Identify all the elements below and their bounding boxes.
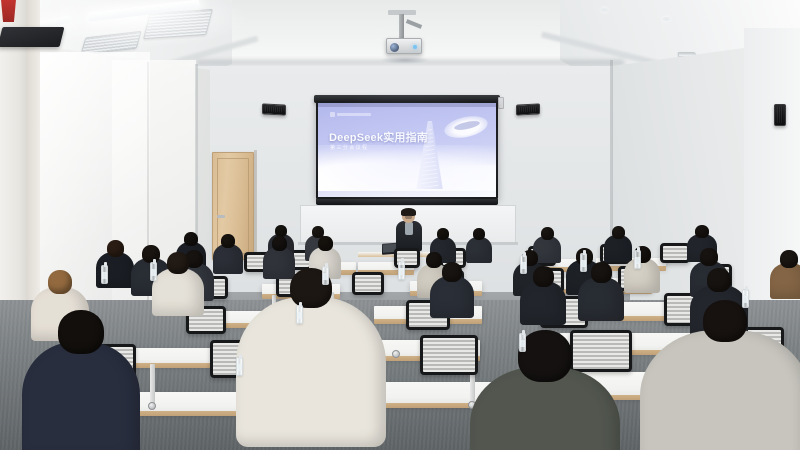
mesh back task chair[interactable] [660,243,690,263]
slide-cloud-graphic [318,145,496,191]
audience-member [236,268,386,450]
audience-member-torso [236,297,386,447]
wall-speaker-icon [516,103,540,115]
door-handle-icon[interactable] [217,215,225,218]
audience-member-head [533,266,554,287]
seminar-room-photo: DeepSeek实用指南 第三分会议程 [0,0,800,450]
audience-member-head [473,228,485,240]
audience-member-head [612,226,625,239]
audience-member-head [167,252,189,274]
water-bottle [520,255,527,274]
water-bottle [236,357,243,376]
presenter [396,210,422,250]
water-bottle [742,289,749,308]
audience-member-head [107,240,124,257]
door-frame-shadow [254,150,257,262]
audience-member-head [221,234,235,248]
audience-member [520,266,566,331]
audience-member-head [703,300,747,342]
wall-speaker-icon [262,103,286,115]
audience-member-torso [624,258,660,293]
water-bottle [398,261,405,280]
water-bottle [519,333,526,352]
presenter-face [405,215,412,219]
presenter-shirt [405,222,413,235]
audience-member-head [700,248,718,266]
slide-top-bar [318,103,496,107]
audience-member-head [184,232,198,246]
water-bottle [101,265,108,284]
slide-title: DeepSeek实用指南 [329,129,428,145]
audience-member [470,330,620,450]
audience-member-head [518,330,572,382]
projector-status-led [413,45,417,49]
audience-member-head [318,236,333,251]
audience-member [770,250,800,304]
audience-member-head [272,236,287,251]
chair-backrest [660,243,690,263]
audience-member [624,246,660,298]
slide-subtitle: 第三分会议程 [330,144,368,151]
wall-speaker-icon [774,104,786,126]
slide-logo-mark-icon [330,112,335,117]
audience-member-head [442,262,462,282]
projector-lens-icon [390,43,399,52]
audience-member-head [591,262,612,283]
water-bottle [296,305,303,324]
audience-member-torso [466,237,492,263]
audience-member-head [707,268,731,292]
audience-member-head [695,225,709,238]
audience-member [466,228,492,266]
audience-member-head [780,250,798,268]
audience-member-torso [152,268,204,316]
table-leg [150,364,155,404]
projector-shadow [380,56,430,64]
audience-member-torso [520,281,566,325]
table-caster [148,402,156,410]
ceiling-projector [386,38,422,54]
slide-logo [330,112,371,117]
audience-member-head [437,228,449,240]
water-bottle [322,266,329,285]
audience-member-torso [640,330,800,450]
audience-member-torso [22,342,140,450]
audience-member [152,252,204,322]
water-bottle [150,262,157,281]
water-bottle [580,253,587,272]
table-caster [392,350,400,358]
audience-member [430,262,474,324]
water-bottle [634,250,641,269]
audience-member-torso [770,263,800,299]
projector-mount-pole [399,14,404,40]
audience-member-head [541,227,554,240]
slide-logo-wordmark [337,113,371,116]
audience-member-torso [430,276,474,318]
downlight-icon [663,17,670,21]
audience-member [22,310,140,450]
audience-member-torso [578,277,624,321]
projection-screen-roller-end [498,97,504,109]
audience-member [640,300,800,450]
projected-slide: DeepSeek实用指南 第三分会议程 [318,103,496,197]
audience-member-head [58,310,104,354]
black notebook [0,27,64,47]
audience-member-head [48,270,72,294]
downlight-icon [601,8,608,12]
